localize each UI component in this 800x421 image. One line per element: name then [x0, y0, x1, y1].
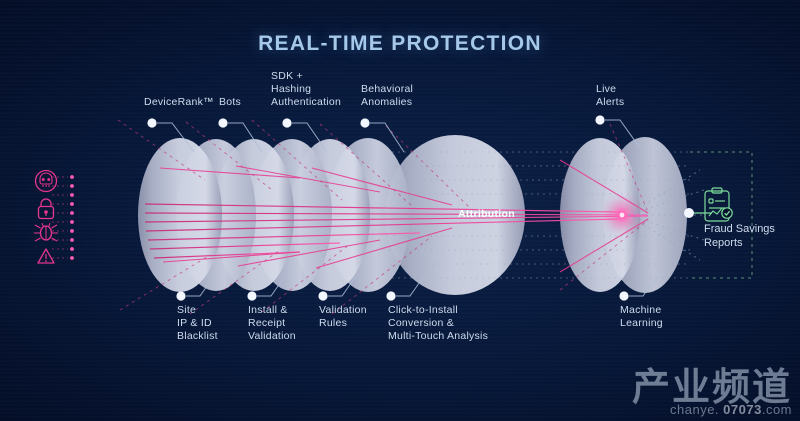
- threat-icon-bug: [34, 223, 58, 241]
- clipboard-report-icon: [705, 188, 732, 221]
- top-connector-dots: [147, 115, 604, 127]
- top-label-behavioral: Behavioral Anomalies: [361, 83, 413, 109]
- top-label-sdk-hashing: SDK + Hashing Authentication: [271, 70, 341, 109]
- bottom-label-machine-learning: Machine Learning: [620, 304, 663, 330]
- attribution-focal-point: [606, 199, 638, 231]
- bottom-label-receipt: Install & Receipt Validation: [248, 304, 296, 343]
- output-bracket: [690, 152, 752, 278]
- top-label-devicerank: DeviceRank™: [144, 96, 214, 109]
- watermark-brand: 07073: [723, 402, 762, 417]
- top-label-live-alerts: Live Alerts: [596, 83, 624, 109]
- top-label-bots: Bots: [219, 96, 241, 109]
- bottom-label-cti-conversion: Click-to-Install Conversion & Multi-Touc…: [388, 304, 488, 343]
- threat-input-dashes: [52, 177, 68, 258]
- watermark: 产业频道 chanye. 07073.com: [632, 368, 792, 417]
- output-connector: [684, 208, 712, 218]
- diagram-canvas: REAL-TIME PROTECTION: [0, 0, 800, 421]
- watermark-suffix: .com: [762, 402, 792, 417]
- fraud-savings-reports-label: Fraud Savings Reports: [704, 222, 775, 250]
- threat-icon-warning: [38, 249, 54, 263]
- threat-icon-lock: [39, 199, 54, 219]
- threat-input-dots: [70, 175, 74, 260]
- bottom-label-blacklist: Site IP & ID Blacklist: [177, 304, 218, 343]
- bottom-label-validation-rules: Validation Rules: [319, 304, 367, 330]
- lens-1: [138, 138, 222, 292]
- funnel-illustration: [0, 0, 800, 421]
- attribution-label: Attribution: [458, 208, 515, 220]
- watermark-prefix: chanye.: [670, 402, 719, 417]
- threat-icon-skull: [36, 171, 57, 192]
